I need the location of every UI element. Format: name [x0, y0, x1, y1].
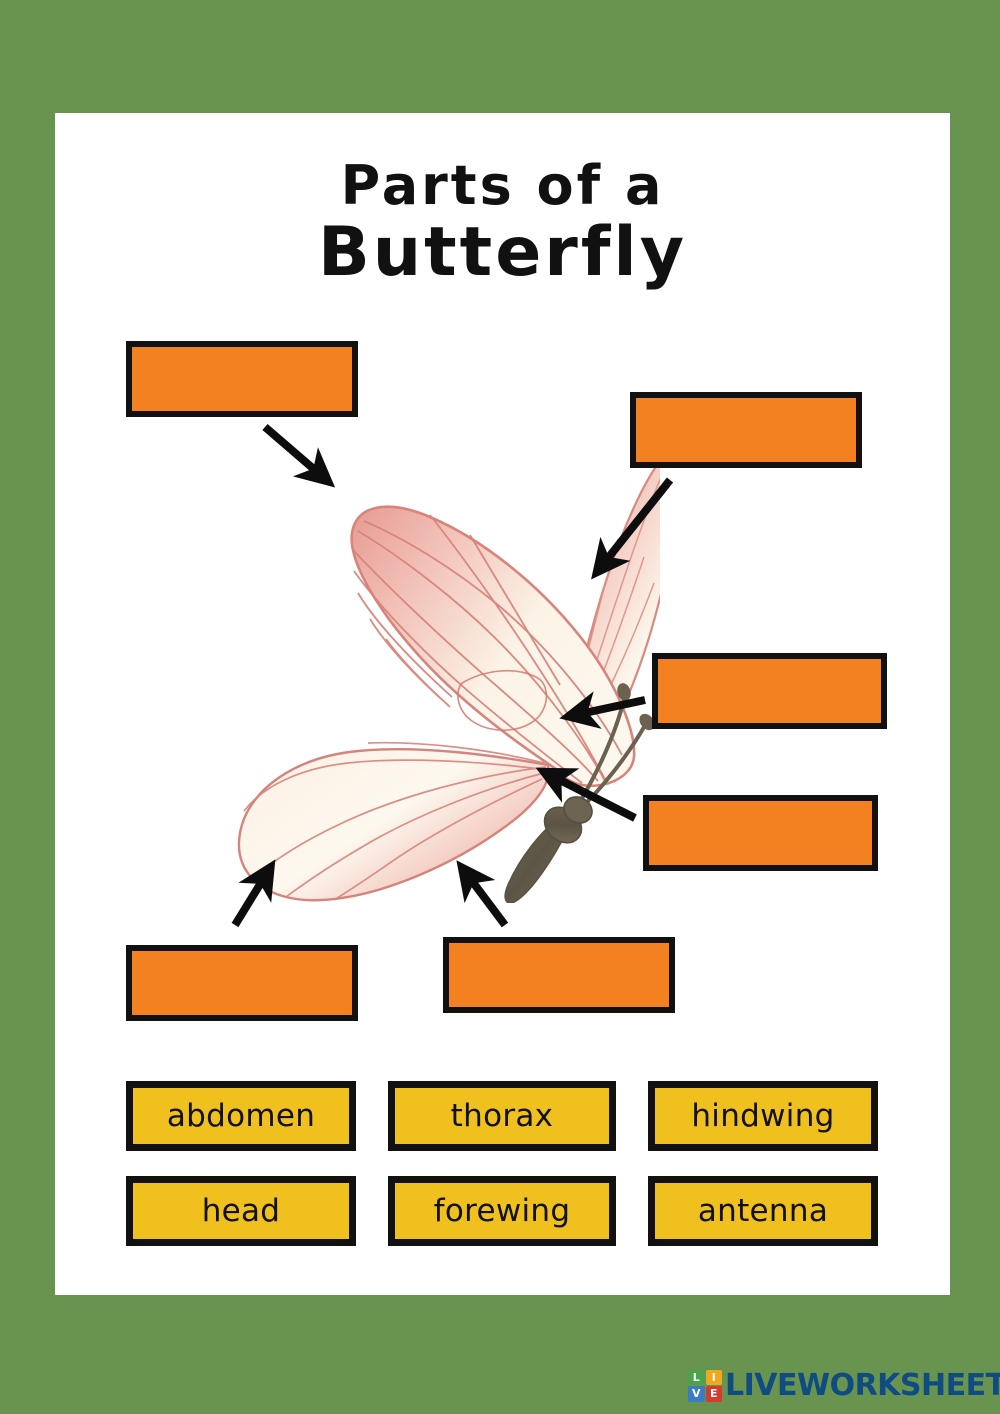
worksheet-page: Parts of a Butterfly	[55, 113, 950, 1295]
butterfly-illustration	[230, 433, 660, 903]
liveworksheets-logo-icon: L I V E	[688, 1370, 722, 1402]
word-tile-antenna[interactable]: antenna	[648, 1176, 878, 1246]
head-blank[interactable]	[652, 653, 887, 729]
liveworksheets-watermark[interactable]: L I V E LIVEWORKSHEETS	[688, 1368, 1000, 1403]
word-tile-head[interactable]: head	[126, 1176, 356, 1246]
butterfly-hindwing	[239, 743, 549, 901]
logo-tile-v: V	[688, 1386, 705, 1402]
antenna-blank[interactable]	[630, 392, 862, 468]
word-tile-abdomen[interactable]: abdomen	[126, 1081, 356, 1151]
logo-tile-i: I	[706, 1370, 723, 1386]
abdomen-blank[interactable]	[443, 937, 675, 1013]
page-title: Parts of a Butterfly	[55, 159, 950, 287]
title-line-1: Parts of a	[55, 159, 950, 213]
word-tile-hindwing[interactable]: hindwing	[648, 1081, 878, 1151]
thorax-blank[interactable]	[643, 795, 878, 871]
forewing-blank[interactable]	[126, 341, 358, 417]
watermark-text: LIVEWORKSHEETS	[725, 1368, 1000, 1403]
title-line-2: Butterfly	[55, 219, 950, 287]
logo-tile-e: E	[706, 1386, 723, 1402]
word-tile-thorax[interactable]: thorax	[388, 1081, 616, 1151]
hindwing-blank[interactable]	[126, 945, 358, 1021]
word-tile-forewing[interactable]: forewing	[388, 1176, 616, 1246]
logo-tile-l: L	[688, 1370, 705, 1386]
